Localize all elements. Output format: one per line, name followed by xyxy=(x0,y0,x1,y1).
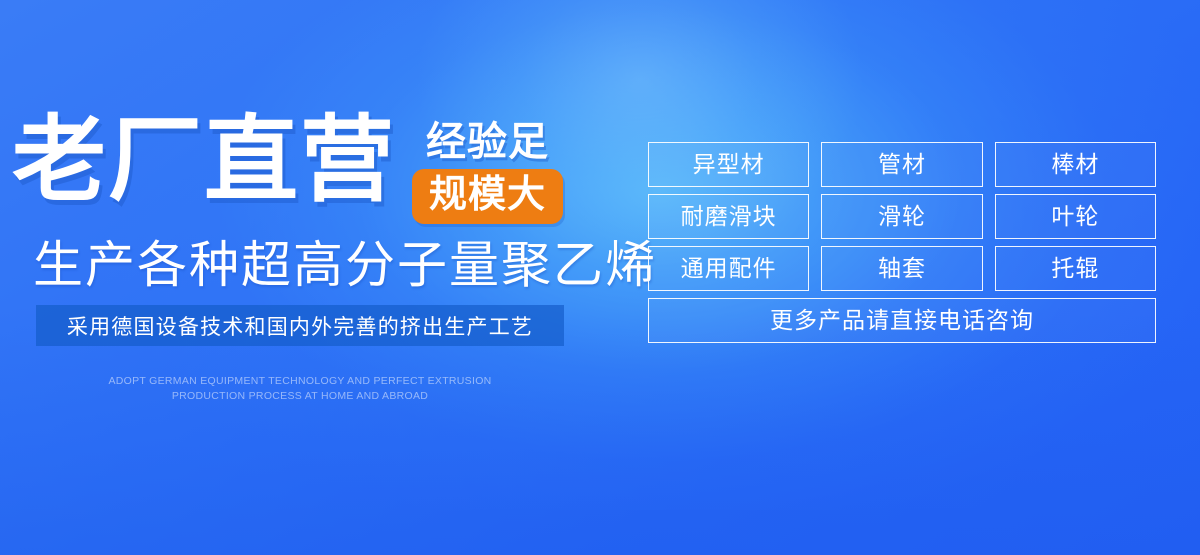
product-cell-label: 棒材 xyxy=(1051,153,1099,176)
product-cell-bushing[interactable]: 轴套 xyxy=(821,246,982,291)
product-grid-row: 通用配件 轴套 托辊 xyxy=(648,246,1156,291)
product-cell-pulley[interactable]: 滑轮 xyxy=(821,194,982,239)
product-cell-label: 管材 xyxy=(878,153,926,176)
english-caption-line-1: ADOPT GERMAN EQUIPMENT TECHNOLOGY AND PE… xyxy=(36,374,564,389)
headline-main: 老厂直营 xyxy=(12,113,396,207)
product-cell-wear-resistant-slider[interactable]: 耐磨滑块 xyxy=(648,194,809,239)
badge-stack: 经验足 规模大 xyxy=(412,121,563,224)
product-grid-row: 异型材 管材 棒材 xyxy=(648,142,1156,187)
product-cell-idler-roller[interactable]: 托辊 xyxy=(995,246,1156,291)
product-cell-label: 通用配件 xyxy=(681,257,777,280)
product-cell-pipe[interactable]: 管材 xyxy=(821,142,982,187)
product-cell-more-inquiry[interactable]: 更多产品请直接电话咨询 xyxy=(648,298,1156,343)
english-caption-line-2: PRODUCTION PROCESS AT HOME AND ABROAD xyxy=(36,389,564,404)
product-grid: 异型材 管材 棒材 耐磨滑块 滑轮 叶轮 通用配件 xyxy=(648,142,1156,343)
banner-left-content: 老厂直营 经验足 规模大 生产各种超高分子量聚乙烯 采用德国设备技术和国内外完善… xyxy=(0,0,620,555)
product-cell-label: 托辊 xyxy=(1051,257,1099,280)
product-cell-label: 轴套 xyxy=(878,257,926,280)
headline-row: 老厂直营 经验足 规模大 xyxy=(12,113,563,224)
product-cell-profile[interactable]: 异型材 xyxy=(648,142,809,187)
promo-banner: 老厂直营 经验足 规模大 生产各种超高分子量聚乙烯 采用德国设备技术和国内外完善… xyxy=(0,0,1200,555)
product-cell-label: 耐磨滑块 xyxy=(681,205,777,228)
subheadline: 生产各种超高分子量聚乙烯 xyxy=(33,238,657,293)
english-caption: ADOPT GERMAN EQUIPMENT TECHNOLOGY AND PE… xyxy=(36,374,564,404)
product-grid-row: 耐磨滑块 滑轮 叶轮 xyxy=(648,194,1156,239)
product-cell-impeller[interactable]: 叶轮 xyxy=(995,194,1156,239)
tagline-text: 采用德国设备技术和国内外完善的挤出生产工艺 xyxy=(67,311,533,341)
badge-experience: 经验足 xyxy=(426,121,549,164)
product-cell-label: 异型材 xyxy=(693,153,765,176)
product-cell-label: 滑轮 xyxy=(878,205,926,228)
badge-scale: 规模大 xyxy=(412,169,563,224)
product-cell-label: 叶轮 xyxy=(1051,205,1099,228)
tagline-bar: 采用德国设备技术和国内外完善的挤出生产工艺 xyxy=(36,305,564,346)
product-cell-rod[interactable]: 棒材 xyxy=(995,142,1156,187)
product-cell-label: 更多产品请直接电话咨询 xyxy=(770,309,1034,332)
product-cell-general-accessories[interactable]: 通用配件 xyxy=(648,246,809,291)
